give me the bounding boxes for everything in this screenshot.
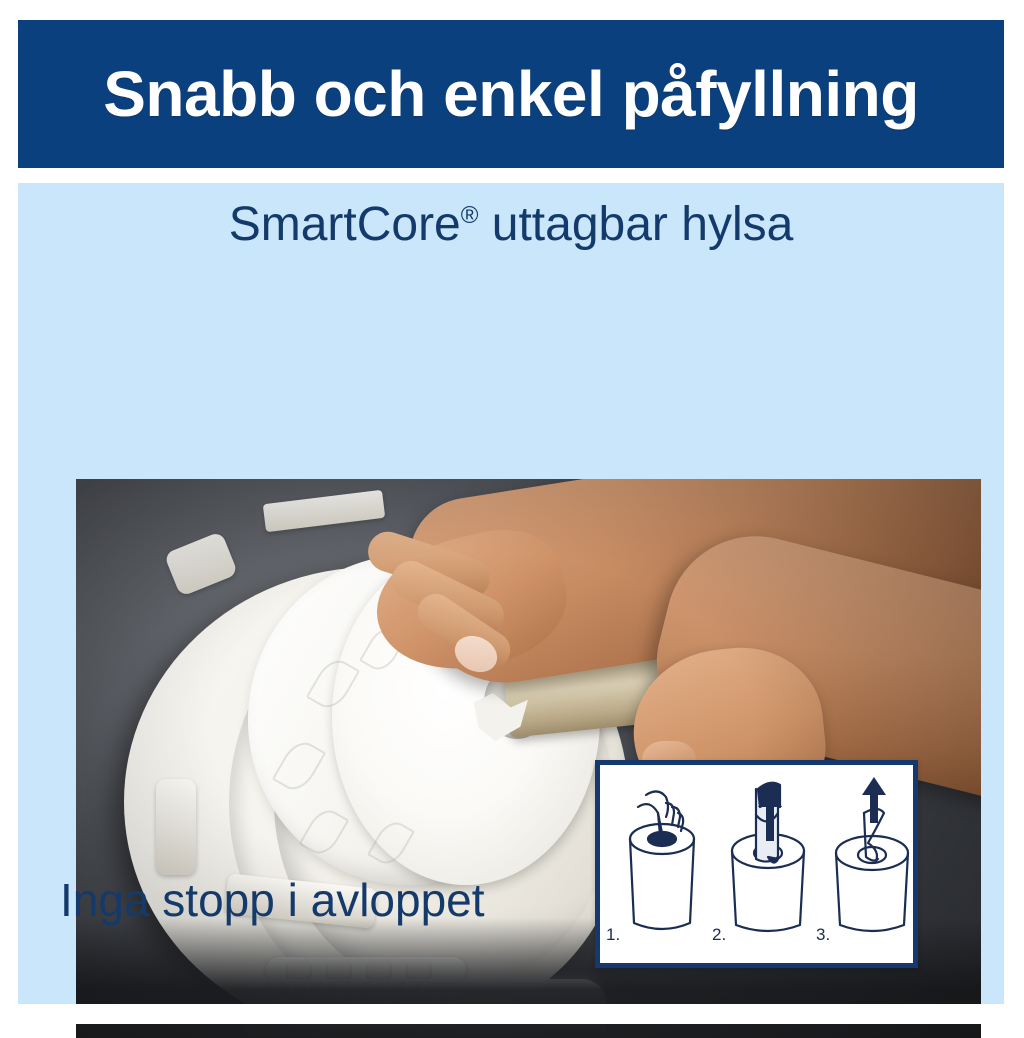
- step2-illustration: [722, 773, 814, 941]
- instruction-step-3: 3.: [814, 765, 918, 963]
- instruction-step-2: 2.: [710, 765, 814, 963]
- page-margin-left: [0, 0, 18, 1024]
- instruction-step-1: 1.: [604, 765, 708, 963]
- page-margin-top: [0, 0, 1024, 20]
- subtitle: SmartCore® uttagbar hylsa: [18, 200, 1004, 250]
- registered-trademark-icon: ®: [461, 202, 479, 229]
- instruction-diagram: 1.: [595, 760, 918, 968]
- page-title: Snabb och enkel påfyllning: [103, 62, 919, 126]
- step-number: 2.: [712, 925, 726, 945]
- subtitle-rest: uttagbar hylsa: [478, 198, 793, 251]
- footer-headline: Inga stopp i avloppet: [60, 873, 485, 927]
- step-number: 1.: [606, 925, 620, 945]
- step1-illustration: [616, 773, 708, 941]
- subtitle-brand: SmartCore: [229, 198, 461, 251]
- step3-illustration: [826, 773, 918, 941]
- poster-page: Snabb och enkel påfyllning SmartCore® ut…: [0, 0, 1024, 1024]
- banner-panel-gap: [0, 168, 1024, 183]
- header-banner: Snabb och enkel påfyllning: [18, 20, 1004, 168]
- step-number: 3.: [816, 925, 830, 945]
- content-panel: SmartCore® uttagbar hylsa: [18, 183, 1004, 1004]
- page-margin-bottom: [0, 1004, 1024, 1024]
- page-margin-right: [1004, 0, 1024, 1024]
